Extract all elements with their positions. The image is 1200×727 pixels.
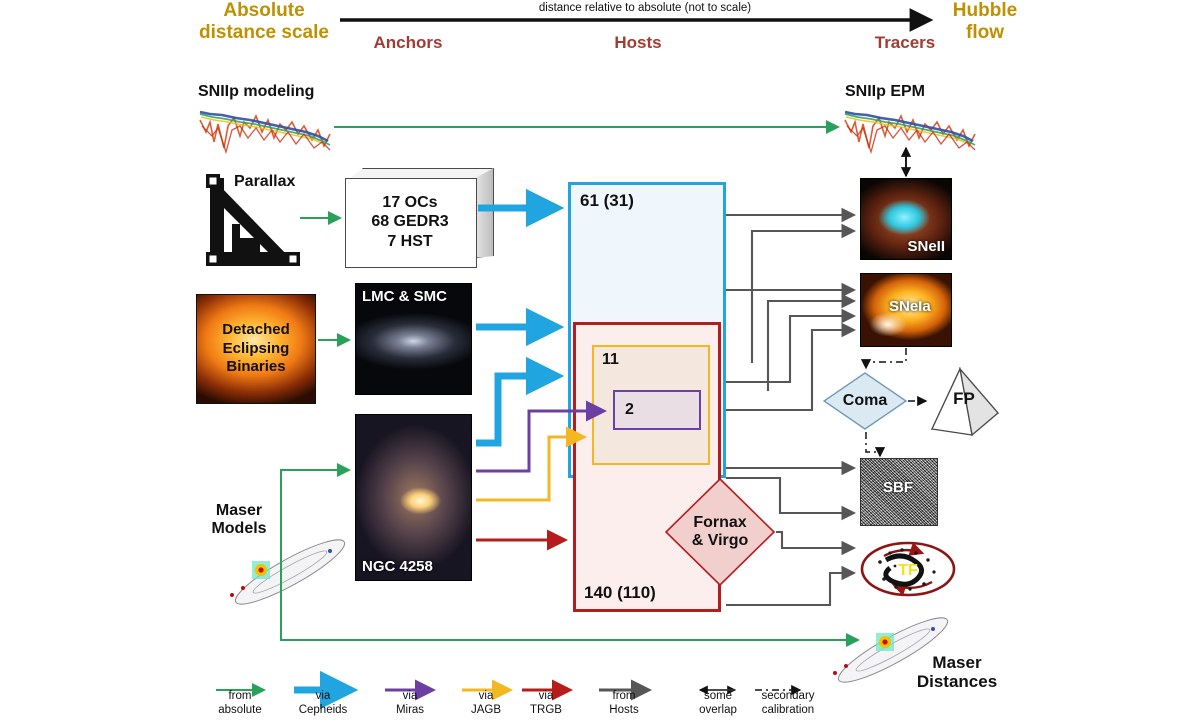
legend-label-from-hosts-2: Hosts	[609, 704, 638, 718]
legend-label-some-overlap-1: some	[699, 690, 737, 704]
gray-host-arrows	[726, 215, 854, 605]
maser-models-disk-icon	[229, 531, 350, 614]
legend-label-via-jagb-1: via	[471, 690, 501, 704]
green-absolute-arrows	[281, 127, 858, 640]
legend-label-via-cepheids-1: via	[299, 690, 348, 704]
legend-label-via-miras-1: via	[396, 690, 424, 704]
legend-label-from-hosts-1: from	[609, 690, 638, 704]
legend-label-via-miras-2: Miras	[396, 704, 424, 718]
legend-label-from-absolute-1: from	[218, 690, 261, 704]
legend-label-some-overlap-2: overlap	[699, 704, 737, 718]
sniip-modeling-spectrum-icon	[200, 112, 330, 152]
sniip-epm-spectrum-icon	[845, 112, 975, 152]
legend: from absolute via Cepheids via Miras via…	[188, 668, 868, 724]
parallax-triangle-icon	[206, 174, 300, 266]
connector-layer: TF	[0, 0, 1200, 727]
legend-label-via-jagb-2: JAGB	[471, 704, 501, 718]
tf-spiral-galaxy-icon: TF	[862, 543, 954, 595]
legend-label-from-absolute-2: absolute	[218, 704, 261, 718]
distance-ladder-diagram: Absolute distance scale Hubble flow dist…	[0, 0, 1200, 727]
secondary-calibration-links	[866, 348, 926, 456]
tf-label: TF	[898, 562, 918, 579]
legend-label-secondary-calibration-1: secondary	[761, 690, 814, 704]
legend-label-via-cepheids-2: Cepheids	[299, 704, 348, 718]
legend-label-secondary-calibration-2: calibration	[761, 704, 814, 718]
blue-cepheid-arrows	[476, 208, 558, 443]
legend-label-via-trgb-1: via	[530, 690, 562, 704]
legend-label-via-trgb-2: TRGB	[530, 704, 562, 718]
